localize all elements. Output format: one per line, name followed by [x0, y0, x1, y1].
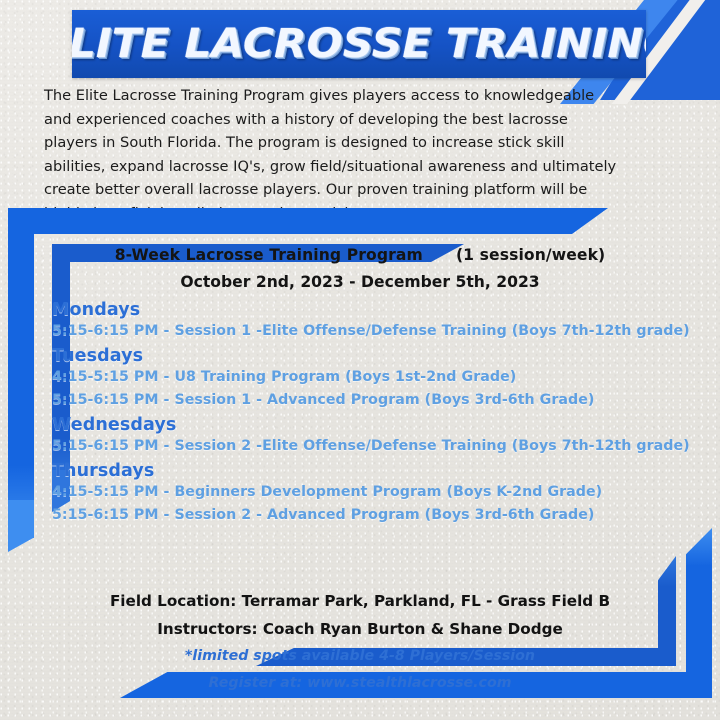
poster-title: ELITE LACROSSE TRAINING — [72, 21, 646, 67]
register-link[interactable]: Register at: www.stealthlacrosse.com — [0, 675, 720, 691]
day-heading: Thursdays — [52, 461, 712, 481]
intro-paragraph: The Elite Lacrosse Training Program give… — [44, 84, 626, 225]
session-line: 5:15-6:15 PM - Session 1 -Elite Offense/… — [52, 323, 712, 339]
day-heading: Wednesdays — [52, 415, 712, 435]
footer-block: Field Location: Terramar Park, Parkland,… — [0, 592, 720, 702]
session-line: 5:15-6:15 PM - Session 1 - Advanced Prog… — [52, 392, 712, 408]
session-line: 5:15-6:15 PM - Session 2 - Advanced Prog… — [52, 507, 712, 523]
day-heading: Tuesdays — [52, 346, 712, 366]
schedule-heading: 8-Week Lacrosse Training Program (1 sess… — [0, 246, 720, 291]
session-line: 4:15-5:15 PM - U8 Training Program (Boys… — [52, 369, 712, 385]
day-heading: Mondays — [52, 300, 712, 320]
poster-canvas: ELITE LACROSSE TRAINING The Elite Lacros… — [0, 0, 720, 720]
day-block-tuesdays: Tuesdays 4:15-5:15 PM - U8 Training Prog… — [52, 346, 712, 408]
program-title: 8-Week Lacrosse Training Program — [115, 246, 423, 264]
program-title-line: 8-Week Lacrosse Training Program (1 sess… — [0, 246, 720, 264]
day-block-thursdays: Thursdays 4:15-5:15 PM - Beginners Devel… — [52, 461, 712, 523]
schedule-days-list: Mondays 5:15-6:15 PM - Session 1 -Elite … — [52, 300, 712, 530]
program-frequency: (1 session/week) — [456, 246, 605, 264]
field-location: Field Location: Terramar Park, Parkland,… — [0, 592, 720, 610]
left-frame-outer-top-bar — [8, 208, 608, 234]
limited-spots-note: *limited spots available 4-8 Players/Ses… — [0, 648, 720, 664]
day-block-wednesdays: Wednesdays 5:15-6:15 PM - Session 2 -Eli… — [52, 415, 712, 454]
session-line: 5:15-6:15 PM - Session 2 -Elite Offense/… — [52, 438, 712, 454]
day-block-mondays: Mondays 5:15-6:15 PM - Session 1 -Elite … — [52, 300, 712, 339]
left-frame-outer-foot — [8, 500, 34, 552]
session-line: 4:15-5:15 PM - Beginners Development Pro… — [52, 484, 712, 500]
instructors: Instructors: Coach Ryan Burton & Shane D… — [0, 620, 720, 638]
header-banner: ELITE LACROSSE TRAINING — [72, 10, 646, 78]
program-date-range: October 2nd, 2023 - December 5th, 2023 — [0, 273, 720, 291]
